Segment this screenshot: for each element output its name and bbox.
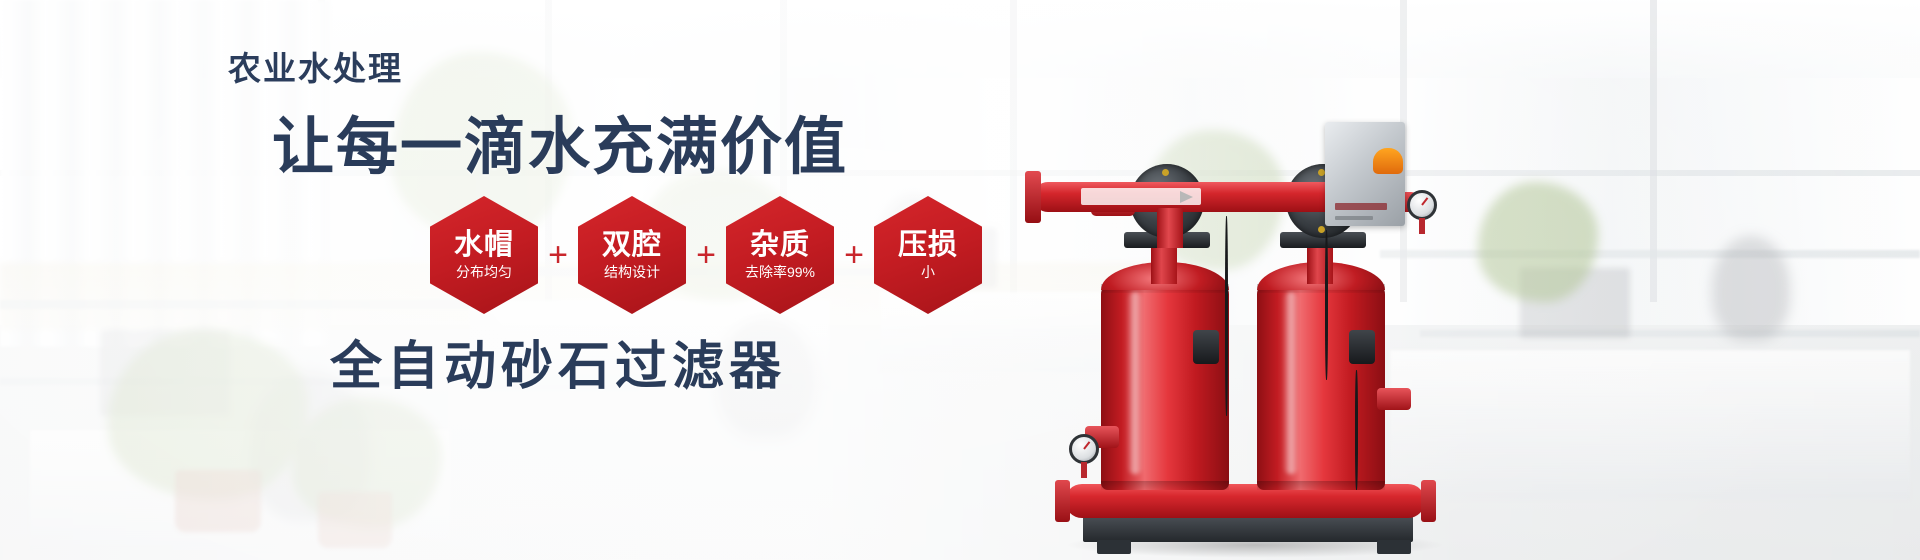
control-box bbox=[1325, 122, 1405, 226]
gauge-stem bbox=[1419, 218, 1425, 234]
product-name: 全自动砂石过滤器 bbox=[330, 324, 786, 399]
copy-block: 农业水处理 让每一滴水充满价值 水帽 分布均匀 + 双腔 结构设计 + 杂质 去… bbox=[0, 0, 1000, 560]
eyebrow-text: 农业水处理 bbox=[228, 42, 403, 90]
control-cable bbox=[1355, 370, 1358, 490]
pressure-gauge bbox=[1069, 434, 1099, 464]
badge-title: 压损 bbox=[898, 230, 958, 260]
badge-title: 双腔 bbox=[602, 230, 662, 260]
skid-base bbox=[1083, 516, 1413, 542]
tee-riser bbox=[1157, 208, 1183, 248]
skid-foot bbox=[1097, 540, 1131, 554]
vessel-band bbox=[1101, 481, 1229, 490]
badge-subtitle: 分布均匀 bbox=[456, 265, 512, 280]
filter-vessel bbox=[1257, 284, 1385, 490]
manifold-flange bbox=[1421, 480, 1436, 522]
hero-banner: 农业水处理 让每一滴水充满价值 水帽 分布均匀 + 双腔 结构设计 + 杂质 去… bbox=[0, 0, 1920, 560]
filter-vessel bbox=[1101, 284, 1229, 490]
control-box-brand-label bbox=[1335, 203, 1387, 210]
valve-bolt bbox=[1162, 169, 1169, 176]
badge-subtitle: 结构设计 bbox=[604, 265, 660, 280]
feature-badge-row: 水帽 分布均匀 + 双腔 结构设计 + 杂质 去除率99% + 压损 小 bbox=[430, 196, 982, 314]
control-cable bbox=[1225, 216, 1228, 416]
vessel-highlight bbox=[1127, 292, 1143, 474]
badge-subtitle: 小 bbox=[921, 265, 935, 280]
filter-equipment bbox=[1025, 120, 1505, 560]
page-title: 让每一滴水充满价值 bbox=[272, 96, 848, 186]
plus-separator: + bbox=[686, 238, 726, 272]
valve-bolt bbox=[1318, 226, 1325, 233]
gauge-stem bbox=[1081, 462, 1087, 478]
pressure-gauge bbox=[1407, 190, 1437, 220]
feature-badge-zazhi: 杂质 去除率99% bbox=[726, 196, 834, 314]
vessel-band bbox=[1257, 481, 1385, 490]
valve-bolt bbox=[1318, 169, 1325, 176]
badge-title: 水帽 bbox=[454, 230, 514, 260]
skid-foot bbox=[1377, 540, 1411, 554]
control-box-sub-label bbox=[1335, 216, 1373, 220]
flow-direction-arrow bbox=[1081, 188, 1201, 205]
badge-subtitle: 去除率99% bbox=[745, 265, 815, 280]
manifold-flange bbox=[1055, 480, 1070, 522]
vessel-highlight bbox=[1283, 292, 1299, 474]
vessel-clamp bbox=[1349, 330, 1375, 364]
vessel-nozzle bbox=[1377, 388, 1411, 410]
plus-separator: + bbox=[538, 238, 578, 272]
control-cable bbox=[1325, 230, 1328, 380]
vessel-clamp bbox=[1193, 330, 1219, 364]
plus-separator: + bbox=[834, 238, 874, 272]
feature-badge-shuimao: 水帽 分布均匀 bbox=[430, 196, 538, 314]
feature-badge-yasun: 压损 小 bbox=[874, 196, 982, 314]
inlet-flange bbox=[1025, 171, 1041, 223]
feature-badge-shuangqiang: 双腔 结构设计 bbox=[578, 196, 686, 314]
orange-valve-handle bbox=[1373, 148, 1403, 174]
badge-title: 杂质 bbox=[750, 230, 810, 260]
